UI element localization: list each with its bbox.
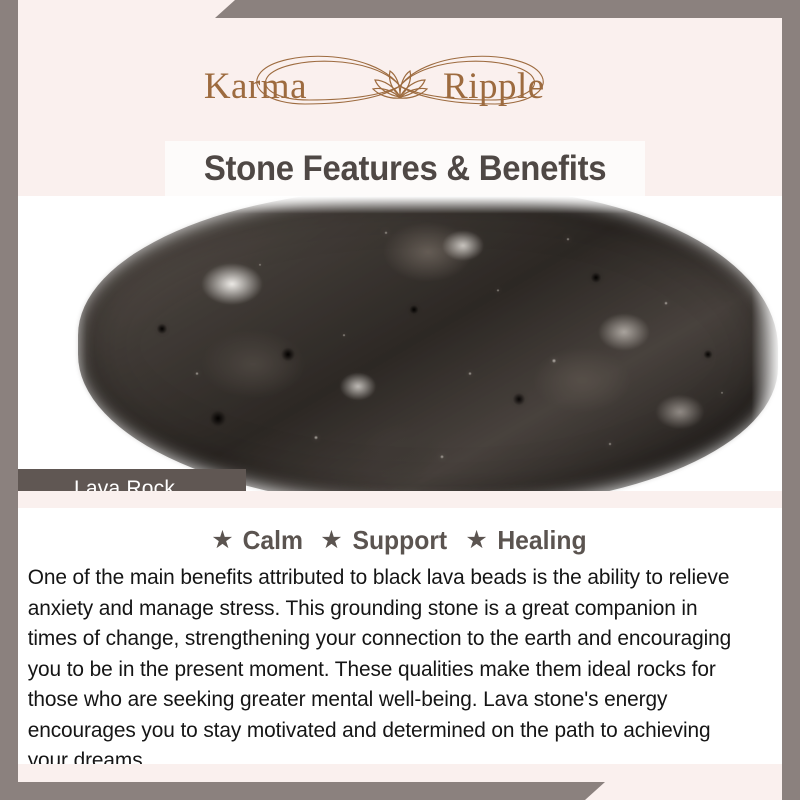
stone-name-label: Lava Rock bbox=[18, 477, 175, 492]
page-title: Stone Features & Benefits bbox=[204, 149, 606, 189]
keyword-row: ★ Calm ★ Support ★ Healing bbox=[18, 508, 782, 556]
frame-band-bottom bbox=[0, 782, 605, 800]
benefits-panel: ★ Calm ★ Support ★ Healing One of the ma… bbox=[18, 508, 782, 764]
stone-benefits-infographic: Karma Ripple Stone Features & Benefits L… bbox=[0, 0, 800, 800]
star-icon: ★ bbox=[465, 528, 487, 553]
keyword-label: Support bbox=[352, 525, 447, 556]
star-icon: ★ bbox=[211, 528, 233, 553]
keyword-label: Healing bbox=[497, 525, 586, 556]
frame-band-left bbox=[0, 0, 18, 782]
keyword-label: Calm bbox=[242, 525, 302, 556]
brand-logo: Karma Ripple bbox=[18, 38, 782, 134]
keyword-support: ★ Support bbox=[320, 525, 449, 556]
photo-content-separator bbox=[18, 491, 782, 508]
frame-band-top bbox=[215, 0, 800, 18]
brand-logo-svg: Karma Ripple bbox=[185, 42, 615, 130]
content-plate: Karma Ripple Stone Features & Benefits L… bbox=[18, 18, 782, 782]
keyword-calm: ★ Calm bbox=[211, 525, 304, 556]
keyword-healing: ★ Healing bbox=[465, 525, 588, 556]
lava-rock-texture-blur bbox=[78, 196, 778, 491]
bottom-filler bbox=[18, 764, 782, 782]
title-band: Stone Features & Benefits bbox=[165, 141, 645, 196]
frame-band-right bbox=[782, 18, 800, 800]
benefits-description: One of the main benefits attributed to b… bbox=[18, 562, 759, 776]
lava-rock-photo: Lava Rock bbox=[18, 196, 782, 491]
brand-name-right: Ripple bbox=[443, 66, 545, 107]
stone-name-banner: Lava Rock bbox=[18, 469, 246, 491]
star-icon: ★ bbox=[320, 528, 342, 553]
brand-name-left: Karma bbox=[204, 66, 307, 107]
lava-rock-shape bbox=[78, 196, 778, 491]
